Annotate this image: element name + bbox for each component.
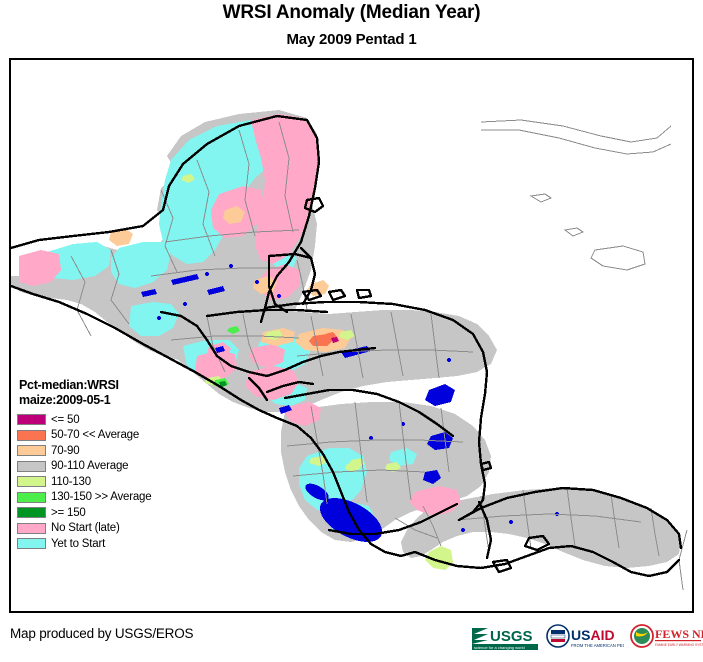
legend-swatch (17, 476, 46, 487)
legend-swatch (17, 445, 46, 456)
legend-swatch (17, 414, 46, 425)
legend-row: 70-90 (17, 443, 192, 459)
legend-label: <= 50 (51, 414, 79, 426)
agency-logos: USGS science for a changing world USAID … (470, 620, 695, 654)
legend-row: No Start (late) (17, 521, 192, 537)
legend-row: >= 150 (17, 505, 192, 521)
svg-text:USGS: USGS (490, 628, 533, 645)
usaid-logo[interactable]: USAID FROM THE AMERICAN PEOPLE (546, 622, 624, 652)
legend-label: 70-90 (51, 445, 79, 457)
svg-text:FAMINE EARLY WARNING SYSTEMS N: FAMINE EARLY WARNING SYSTEMS NETWORK (655, 643, 703, 647)
legend-label: 110-130 (51, 476, 91, 488)
legend-swatch (17, 523, 46, 534)
water-dot-g (461, 528, 465, 532)
map-legend: Pct-median:WRSI maize:2009-05-1 <= 5050-… (17, 378, 192, 552)
legend-items: <= 5050-70 << Average70-9090-110 Average… (17, 412, 192, 552)
water-dot-k (183, 302, 187, 306)
legend-row: 130-150 >> Average (17, 490, 192, 506)
water-dot-a (205, 272, 209, 276)
legend-row: 50-70 << Average (17, 428, 192, 444)
legend-label: No Start (late) (51, 522, 120, 534)
usaid-seal-icon (547, 625, 569, 647)
usgs-logo[interactable]: USGS science for a changing world (470, 622, 540, 652)
legend-row: 110-130 (17, 474, 192, 490)
usgs-wave-mark (472, 628, 488, 644)
legend-label: 50-70 << Average (51, 429, 139, 441)
fewsnet-globe-icon (631, 625, 653, 647)
map-credit: Map produced by USGS/EROS (10, 626, 193, 641)
water-dot-b (229, 264, 233, 268)
svg-text:USAID: USAID (571, 627, 615, 643)
legend-row: <= 50 (17, 412, 192, 428)
legend-row: 90-110 Average (17, 459, 192, 475)
svg-text:FROM THE AMERICAN PEOPLE: FROM THE AMERICAN PEOPLE (571, 643, 624, 648)
svg-text:science for a changing world: science for a changing world (474, 645, 525, 650)
map-frame[interactable]: Pct-median:WRSI maize:2009-05-1 <= 5050-… (9, 58, 694, 613)
legend-row: Yet to Start (17, 536, 192, 552)
legend-heading-line1: Pct-median:WRSI (17, 378, 192, 393)
legend-heading-line2: maize:2009-05-1 (17, 393, 192, 408)
legend-label: >= 150 (51, 507, 86, 519)
legend-label: 90-110 Average (51, 460, 128, 472)
water-dot-d (277, 294, 281, 298)
page-subtitle: May 2009 Pentad 1 (0, 31, 703, 48)
fewsnet-logo[interactable]: FEWS NET FAMINE EARLY WARNING SYSTEMS NE… (630, 622, 703, 652)
water-dot-l (157, 316, 161, 320)
water-dot-c (255, 280, 259, 284)
svg-text:FEWS NET: FEWS NET (655, 627, 703, 641)
legend-swatch (17, 538, 46, 549)
legend-swatch (17, 492, 46, 503)
water-dot-j (447, 358, 451, 362)
legend-swatch (17, 461, 46, 472)
legend-label: Yet to Start (51, 538, 105, 550)
legend-swatch (17, 430, 46, 441)
water-dot-h (509, 520, 513, 524)
legend-swatch (17, 507, 46, 518)
legend-label: 130-150 >> Average (51, 491, 151, 503)
water-dot-e (369, 436, 373, 440)
page-title: WRSI Anomaly (Median Year) (0, 2, 703, 24)
